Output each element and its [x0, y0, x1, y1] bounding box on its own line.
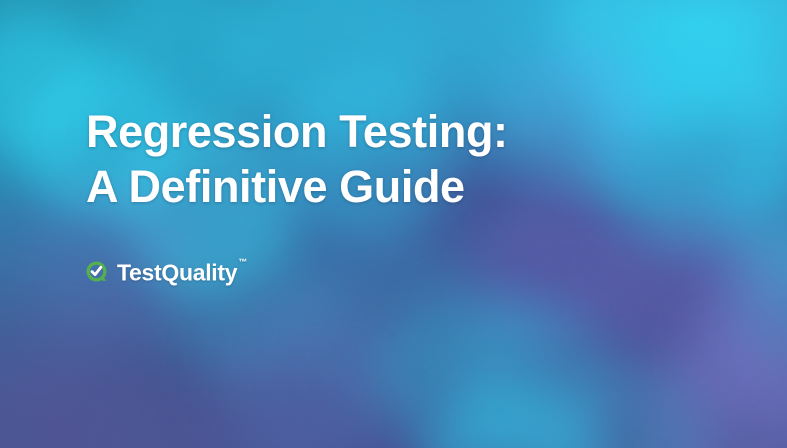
circle-check-icon [84, 259, 109, 284]
brand-name-text: TestQuality [117, 260, 237, 286]
brand-name: TestQuality™ [117, 257, 246, 286]
banner-content: Regression Testing: A Definitive Guide T… [0, 0, 787, 448]
hero-banner: Regression Testing: A Definitive Guide T… [0, 0, 787, 448]
testquality-logo[interactable]: TestQuality™ [84, 257, 246, 286]
trademark-symbol: ™ [238, 257, 247, 267]
page-title: Regression Testing: A Definitive Guide [86, 104, 508, 214]
